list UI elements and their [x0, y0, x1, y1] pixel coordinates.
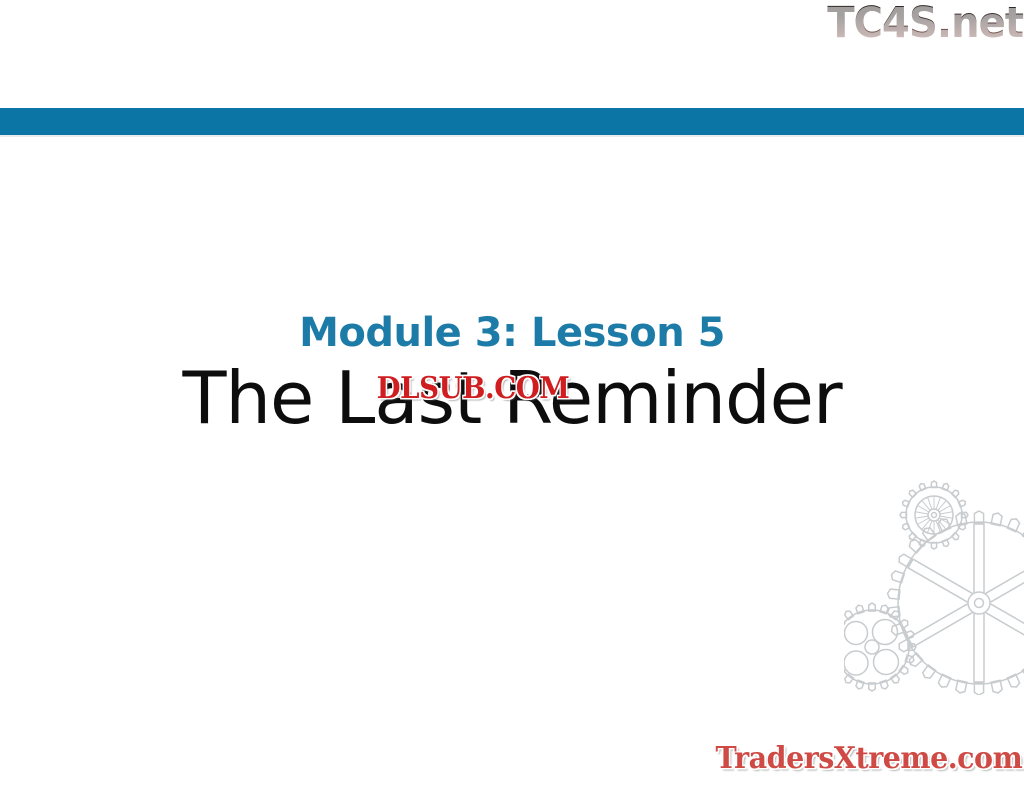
dlsub-watermark: DLSUB.COM: [373, 372, 573, 406]
header-divider-underline: [0, 135, 1024, 137]
header-divider-band: [0, 108, 1024, 135]
footer-site-logo: TradersXtreme.com: [710, 741, 1024, 777]
gear-decoration: [844, 475, 1024, 695]
brand-logo: TC4S.net: [819, 0, 1024, 49]
presentation-slide: TC4S.net Module 3: Lesson 5 The Last Rem…: [0, 0, 1024, 791]
gears-icon: [844, 475, 1024, 695]
slide-subtitle: Module 3: Lesson 5: [0, 312, 1024, 354]
